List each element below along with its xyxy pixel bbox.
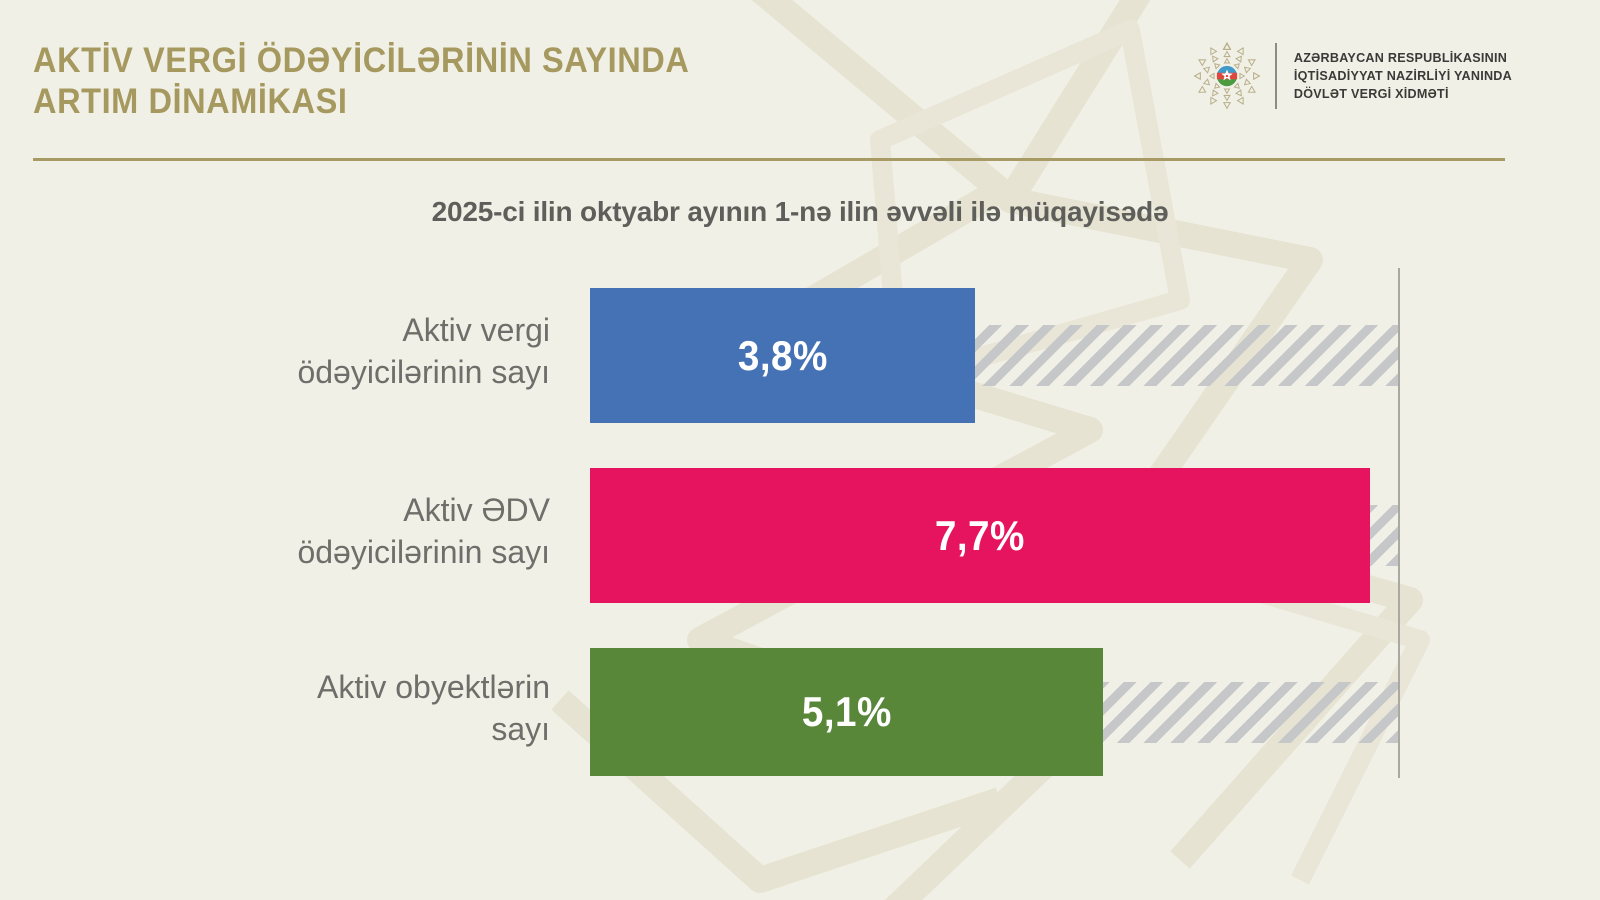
bar-segment: 3,8% xyxy=(590,288,975,423)
azerbaijan-state-tax-service-emblem-icon xyxy=(1191,40,1263,112)
chart-row: Aktiv obyektlərin sayı 5,1% xyxy=(0,648,1600,776)
bar-segment: 7,7% xyxy=(590,468,1370,603)
bar-remainder-hatch xyxy=(1088,682,1398,743)
bar-value-label: 5,1% xyxy=(802,688,892,736)
organization-logo: AZƏRBAYCAN RESPUBLİKASININ İQTİSADİYYAT … xyxy=(1191,40,1512,112)
bar-remainder-hatch xyxy=(960,325,1398,386)
bar-segment: 5,1% xyxy=(590,648,1103,776)
organization-name: AZƏRBAYCAN RESPUBLİKASININ İQTİSADİYYAT … xyxy=(1294,49,1512,103)
chart-row: Aktiv ƏDV ödəyicilərinin sayı 7,7% xyxy=(0,468,1600,603)
logo-divider xyxy=(1275,43,1277,109)
chart-row: Aktiv vergi ödəyicilərinin sayı 3,8% xyxy=(0,288,1600,423)
chart-subtitle: 2025-ci ilin oktyabr ayının 1-nə ilin əv… xyxy=(0,196,1600,228)
bar-value-label: 7,7% xyxy=(935,512,1025,560)
chart-reference-line xyxy=(1398,268,1400,778)
header: AKTİV VERGİ ÖDƏYİCİLƏRİNİN SAYINDA ARTIM… xyxy=(0,0,1600,170)
bar-category-label: Aktiv ƏDV ödəyicilərinin sayı xyxy=(120,489,550,573)
bar-value-label: 3,8% xyxy=(738,332,828,380)
page-title: AKTİV VERGİ ÖDƏYİCİLƏRİNİN SAYINDA ARTIM… xyxy=(33,40,689,122)
bar-category-label: Aktiv obyektlərin sayı xyxy=(120,666,550,750)
bar-category-label: Aktiv vergi ödəyicilərinin sayı xyxy=(120,309,550,393)
header-divider xyxy=(33,158,1505,161)
